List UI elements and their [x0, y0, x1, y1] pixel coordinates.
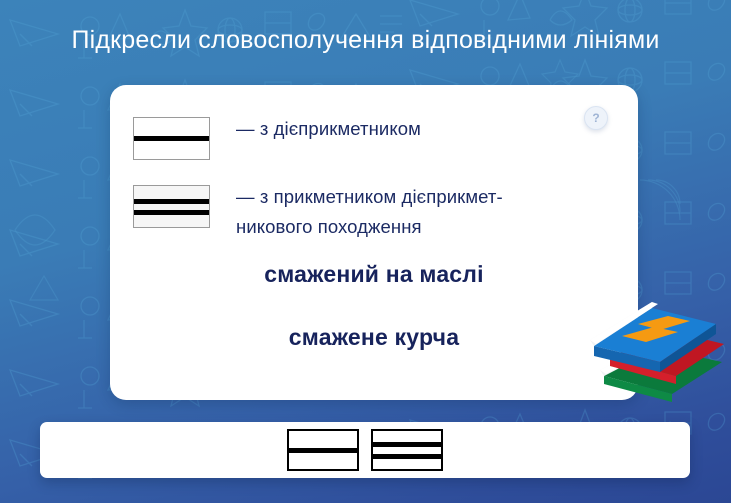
- phrase-list: смажений на маслі смажене курча: [110, 263, 638, 349]
- page-title-bar: Підкресли словосполучення відповідними л…: [0, 0, 731, 80]
- single-line-swatch-icon: [133, 117, 210, 160]
- phrase-item-2[interactable]: смажене курча: [110, 326, 638, 349]
- double-line-swatch-icon: [133, 185, 210, 228]
- legend-label-adjective: — з прикметником дієприкмет- никового по…: [236, 182, 503, 242]
- legend: — з дієприкметником — з прикметником діє…: [133, 114, 613, 242]
- legend-label-participle: — з дієприкметником: [236, 114, 421, 144]
- double-underline-tool-button[interactable]: [371, 429, 443, 471]
- legend-row-participle: — з дієприкметником: [133, 114, 613, 160]
- legend-row-adjective: — з прикметником дієприкмет- никового по…: [133, 182, 613, 242]
- underline-tool-panel: [40, 422, 690, 478]
- single-underline-tool-button[interactable]: [287, 429, 359, 471]
- phrase-item-1[interactable]: смажений на маслі: [110, 263, 638, 286]
- task-card: ? — з дієприкметником — з прикметником д…: [110, 85, 638, 400]
- page-title: Підкресли словосполучення відповідними л…: [71, 26, 659, 55]
- app-root: Підкресли словосполучення відповідними л…: [0, 0, 731, 503]
